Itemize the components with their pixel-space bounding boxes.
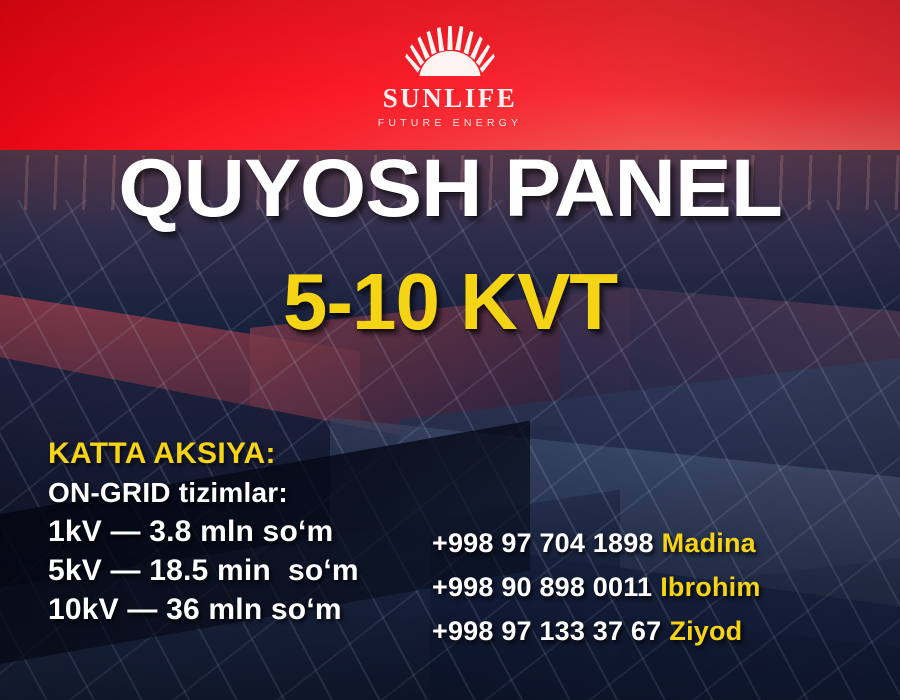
contact-row[interactable]: +998 90 898 0011Ibrohim <box>432 572 761 603</box>
contact-person: Madina <box>662 528 756 558</box>
brand-tagline: FUTURE ENERGY <box>0 117 900 129</box>
sunrise-sun-icon <box>402 24 498 82</box>
contact-phone[interactable]: +998 97 133 37 67 <box>432 616 661 646</box>
system-type-label: ON-GRID tizimlar: <box>48 477 359 509</box>
brand-name: SUNLIFE <box>0 84 900 112</box>
contact-phone[interactable]: +998 90 898 0011 <box>432 572 652 602</box>
headline-subtitle: 5-10 KVT <box>0 262 900 342</box>
contact-row[interactable]: +998 97 704 1898Madina <box>432 528 761 559</box>
price-row: 10kV — 36 mln so‘m <box>48 593 359 627</box>
contact-person: Ziyod <box>669 616 742 646</box>
price-row: 5kV — 18.5 min so‘m <box>48 554 359 588</box>
contact-row[interactable]: +998 97 133 37 67Ziyod <box>432 616 761 647</box>
promo-title: KATTA AKSIYA: <box>48 437 359 471</box>
headline-title: QUYOSH PANEL <box>0 148 900 230</box>
solar-panel-advertisement-poster: SUNLIFE FUTURE ENERGY QUYOSH PANEL 5-10 … <box>0 0 900 700</box>
price-row: 1kV — 3.8 mln so‘m <box>48 515 359 549</box>
contact-person: Ibrohim <box>660 572 760 602</box>
brand-logo-block: SUNLIFE FUTURE ENERGY <box>0 24 900 129</box>
contact-phone[interactable]: +998 97 704 1898 <box>432 528 654 558</box>
offer-block: KATTA AKSIYA: ON-GRID tizimlar: 1kV — 3.… <box>48 437 359 632</box>
contacts-block: +998 97 704 1898Madina +998 90 898 0011I… <box>432 528 761 660</box>
